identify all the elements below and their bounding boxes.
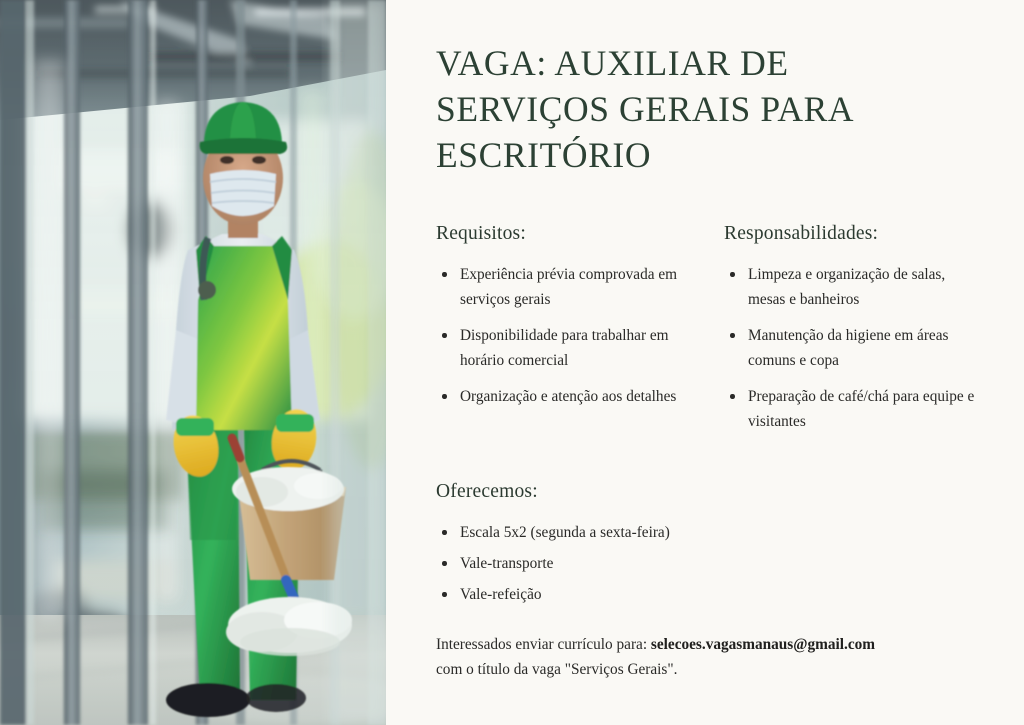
list-item: Vale-refeição xyxy=(436,582,776,607)
list-item-text: Manutenção da higiene em áreas comuns e … xyxy=(748,327,948,369)
contact-prefix: Interessados enviar currículo para: xyxy=(436,636,651,653)
bullet-icon xyxy=(442,592,447,597)
list-item-text: Preparação de café/chá para equipe e vis… xyxy=(748,388,974,430)
list-item: Experiência prévia comprovada em serviço… xyxy=(436,262,698,312)
list-item: Limpeza e organização de salas, mesas e … xyxy=(724,262,986,312)
list-item-text: Escala 5x2 (segunda a sexta-feira) xyxy=(460,524,670,541)
bullet-icon xyxy=(730,394,735,399)
bullet-icon xyxy=(442,530,447,535)
list-item-text: Limpeza e organização de salas, mesas e … xyxy=(748,266,945,308)
responsabilidades-section: Responsabilidades: Limpeza e organização… xyxy=(724,222,986,434)
list-item: Preparação de café/chá para equipe e vis… xyxy=(724,384,986,434)
list-item: Disponibilidade para trabalhar em horári… xyxy=(436,323,698,373)
bullet-icon xyxy=(730,272,735,277)
cleaner-photo xyxy=(0,0,386,725)
contact-email[interactable]: selecoes.vagasmanaus@gmail.com xyxy=(651,636,875,653)
responsabilidades-list: Limpeza e organização de salas, mesas e … xyxy=(724,262,986,434)
list-item-text: Vale-transporte xyxy=(460,555,553,572)
job-posting-poster: VAGA: AUXILIAR DE SERVIÇOS GERAIS PARA E… xyxy=(0,0,1024,725)
page-title: VAGA: AUXILIAR DE SERVIÇOS GERAIS PARA E… xyxy=(436,40,936,178)
oferecemos-list: Escala 5x2 (segunda a sexta-feira) Vale-… xyxy=(436,520,776,607)
list-item: Organização e atenção aos detalhes xyxy=(436,384,698,409)
list-item-text: Organização e atenção aos detalhes xyxy=(460,388,676,405)
contact-note: Interessados enviar currículo para: sele… xyxy=(436,632,996,682)
responsabilidades-heading: Responsabilidades: xyxy=(724,222,986,246)
requisitos-section: Requisitos: Experiência prévia comprovad… xyxy=(436,222,698,409)
list-item-text: Experiência prévia comprovada em serviço… xyxy=(460,266,677,308)
contact-line-1: Interessados enviar currículo para: sele… xyxy=(436,632,996,657)
contact-line-2: com o título da vaga "Serviços Gerais". xyxy=(436,657,996,682)
bullet-icon xyxy=(730,333,735,338)
list-item-text: Vale-refeição xyxy=(460,586,542,603)
content-panel: VAGA: AUXILIAR DE SERVIÇOS GERAIS PARA E… xyxy=(386,0,1024,725)
requisitos-list: Experiência prévia comprovada em serviço… xyxy=(436,262,698,409)
requisitos-heading: Requisitos: xyxy=(436,222,698,246)
list-item: Manutenção da higiene em áreas comuns e … xyxy=(724,323,986,373)
oferecemos-heading: Oferecemos: xyxy=(436,480,776,504)
list-item: Escala 5x2 (segunda a sexta-feira) xyxy=(436,520,776,545)
oferecemos-section: Oferecemos: Escala 5x2 (segunda a sexta-… xyxy=(436,480,776,613)
bullet-icon xyxy=(442,272,447,277)
list-item-text: Disponibilidade para trabalhar em horári… xyxy=(460,327,669,369)
bullet-icon xyxy=(442,561,447,566)
bullet-icon xyxy=(442,333,447,338)
bullet-icon xyxy=(442,394,447,399)
list-item: Vale-transporte xyxy=(436,551,776,576)
